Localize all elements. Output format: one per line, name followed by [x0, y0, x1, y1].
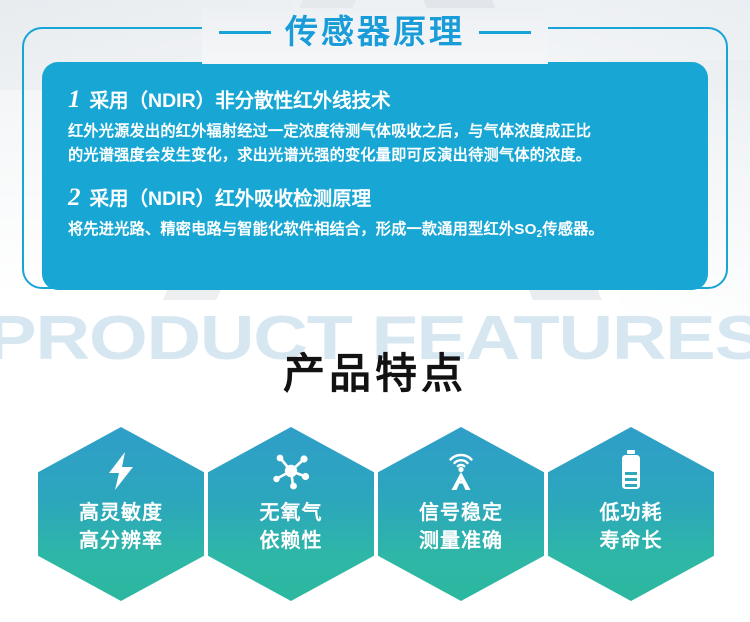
molecule-icon	[269, 449, 313, 493]
feature-card-2-line-2: 依赖性	[260, 527, 323, 555]
principle-item-2-heading: 2 采用（NDIR）红外吸收检测原理	[68, 184, 682, 213]
principle-item-1: 1 采用（NDIR）非分散性红外线技术 红外光源发出的红外辐射经过一定浓度待测气…	[68, 86, 682, 168]
item-2-number: 2	[68, 184, 81, 212]
feature-card-4-line-2: 寿命长	[600, 527, 663, 555]
feature-hexagon-row: 高灵敏度 高分辨率 无氧气 依赖性	[38, 427, 714, 601]
feature-card-3-line-2: 测量准确	[419, 527, 503, 555]
page-title: 传感器原理	[285, 10, 465, 54]
feature-card-high-sensitivity[interactable]: 高灵敏度 高分辨率	[38, 427, 204, 601]
item-1-body-line-2: 的光谱强度会发生变化，求出光谱光强的变化量即可反演出待测气体的浓度。	[68, 144, 682, 168]
feature-card-1-line-2: 高分辨率	[79, 527, 163, 555]
item-1-number: 1	[68, 86, 81, 114]
feature-card-1-line-1: 高灵敏度	[79, 499, 163, 527]
item-2-body-suffix: 传感器。	[542, 221, 604, 238]
lightning-bolt-icon	[99, 449, 143, 493]
feature-card-4-line-1: 低功耗	[600, 499, 663, 527]
item-1-heading-text: 采用（NDIR）非分散性红外线技术	[90, 87, 391, 115]
item-2-body-subscript: 2	[537, 229, 543, 240]
section-title-group: 传感器原理	[0, 10, 750, 54]
title-dash-left	[219, 31, 271, 34]
feature-card-stable-signal[interactable]: 信号稳定 测量准确	[378, 427, 544, 601]
item-2-body: 将先进光路、精密电路与智能化软件相结合，形成一款通用型红外SO2传感器。	[68, 218, 682, 244]
feature-card-2-line-1: 无氧气	[260, 499, 323, 527]
item-2-body-prefix: 将先进光路、精密电路与智能化软件相结合，形成一款通用型红外SO	[68, 221, 537, 238]
feature-card-3-line-1: 信号稳定	[419, 499, 503, 527]
feature-card-no-oxygen[interactable]: 无氧气 依赖性	[208, 427, 374, 601]
principle-card: 1 采用（NDIR）非分散性红外线技术 红外光源发出的红外辐射经过一定浓度待测气…	[42, 62, 708, 290]
principle-item-1-heading: 1 采用（NDIR）非分散性红外线技术	[68, 86, 682, 115]
features-title: 产品特点	[0, 346, 750, 402]
item-1-body-line-1: 红外光源发出的红外辐射经过一定浓度待测气体吸收之后，与气体浓度成正比	[68, 120, 682, 144]
signal-tower-icon	[439, 449, 483, 493]
item-2-heading-text: 采用（NDIR）红外吸收检测原理	[90, 185, 372, 213]
feature-card-low-power[interactable]: 低功耗 寿命长	[548, 427, 714, 601]
principle-item-2: 2 采用（NDIR）红外吸收检测原理 将先进光路、精密电路与智能化软件相结合，形…	[68, 184, 682, 244]
battery-icon	[609, 449, 653, 493]
title-dash-right	[479, 31, 531, 34]
